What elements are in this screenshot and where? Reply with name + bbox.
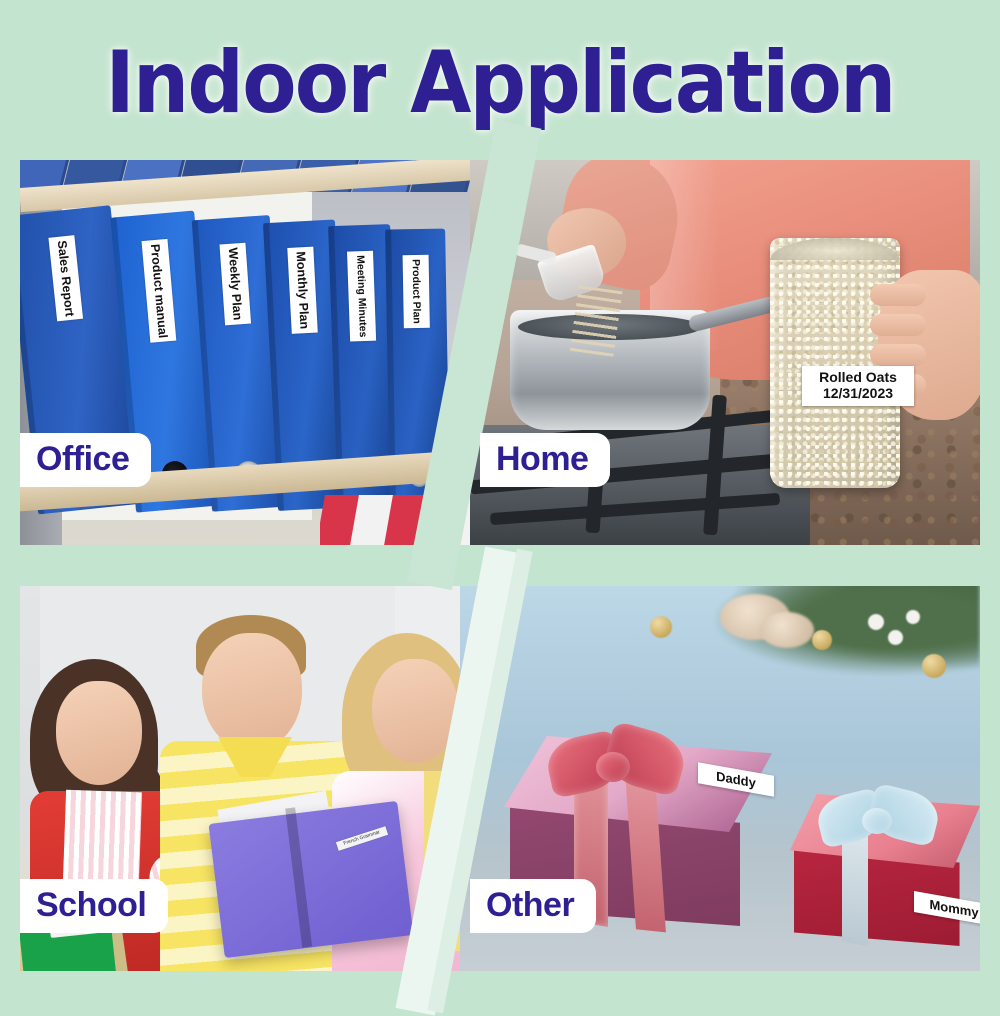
home-photo: Rolled Oats 12/31/2023 [470, 160, 980, 545]
gold-ornament [650, 616, 672, 638]
binder-label: Product Plan [403, 255, 430, 328]
category-badge-office[interactable]: Office [20, 433, 151, 487]
gift-box-small: Mommy [790, 794, 980, 944]
panel-office[interactable]: Sales Report Product manual Weekly Plan [20, 160, 490, 545]
panel-school[interactable]: French Grammar School [20, 586, 485, 971]
binder-label: Monthly Plan [287, 247, 317, 334]
white-berry [888, 630, 903, 645]
jar-label-name: Rolled Oats [806, 369, 910, 385]
office-photo: Sales Report Product manual Weekly Plan [20, 160, 490, 545]
pouring-oats [569, 285, 622, 358]
office-lower-binders [320, 491, 490, 545]
category-badge-home[interactable]: Home [480, 433, 610, 487]
gold-ornament [812, 630, 832, 650]
panel-home[interactable]: Rolled Oats 12/31/2023 Home [470, 160, 980, 545]
pine-cone [760, 612, 814, 648]
jar-label: Rolled Oats 12/31/2023 [802, 366, 914, 406]
binder-label: Meeting Minutes [347, 251, 376, 342]
category-badge-school[interactable]: School [20, 879, 168, 933]
panel-row-top: Sales Report Product manual Weekly Plan [20, 160, 980, 545]
white-berry [906, 610, 920, 624]
page-title-container: Indoor Application [0, 38, 1000, 128]
glitter-bow [548, 722, 698, 802]
application-panel-grid: Sales Report Product manual Weekly Plan [20, 160, 980, 971]
poster-root: Indoor Application [0, 0, 1000, 971]
white-berry [868, 614, 884, 630]
panel-row-bottom: French Grammar School [20, 586, 980, 971]
category-badge-other[interactable]: Other [470, 879, 596, 933]
page-title: Indoor Application [105, 40, 894, 126]
binder-label: Weekly Plan [219, 243, 251, 325]
panel-other[interactable]: Daddy Mommy Other [460, 586, 980, 971]
satin-bow [818, 782, 948, 848]
jar-label-date: 12/31/2023 [806, 385, 910, 402]
purple-binder [208, 801, 413, 958]
gold-ornament [922, 654, 946, 678]
